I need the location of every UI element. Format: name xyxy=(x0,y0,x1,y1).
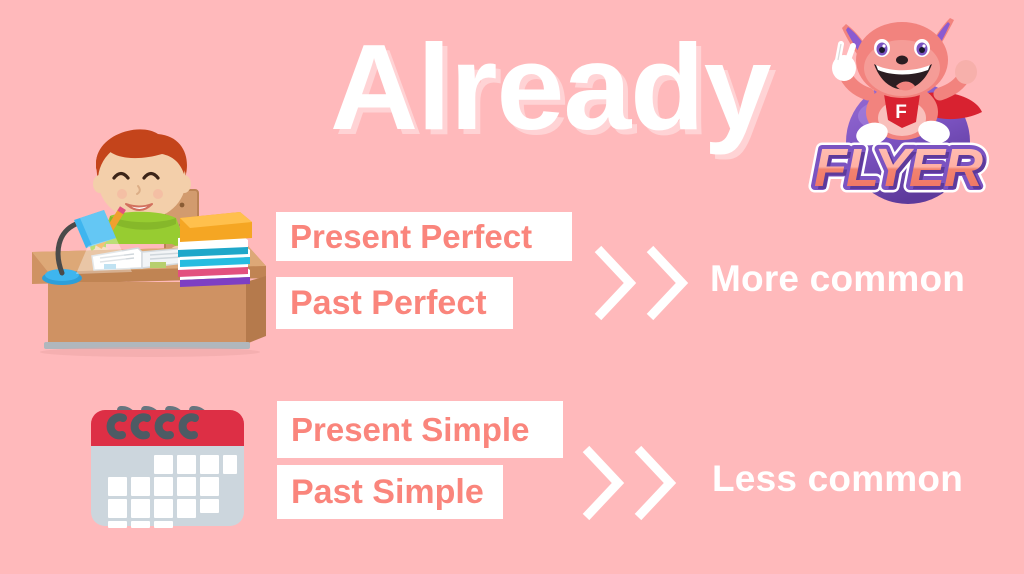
term-box-past-simple[interactable]: Past Simple xyxy=(277,465,503,519)
calendar-icon xyxy=(85,372,250,537)
chevron-right-icon xyxy=(630,443,678,523)
chevron-right-icon xyxy=(578,443,626,523)
frequency-label-more-common: More common xyxy=(710,258,965,300)
term-box-past-perfect[interactable]: Past Perfect xyxy=(276,277,513,329)
svg-text:F: F xyxy=(895,102,907,123)
page-title: Already xyxy=(330,22,790,152)
term-label: Present Simple xyxy=(291,411,529,449)
frequency-label-less-common: Less common xyxy=(712,458,963,500)
flyer-mascot-logo: F xyxy=(800,2,1012,214)
chevron-group-more-common xyxy=(590,243,690,323)
term-box-present-perfect[interactable]: Present Perfect xyxy=(276,212,572,261)
term-label: Present Perfect xyxy=(290,218,532,256)
chevron-group-less-common xyxy=(578,443,678,523)
boy-studying-at-desk-illustration xyxy=(30,112,272,360)
chevron-right-icon xyxy=(590,243,638,323)
term-label: Past Perfect xyxy=(290,284,487,323)
chevron-right-icon xyxy=(642,243,690,323)
svg-text:FLYER: FLYER xyxy=(814,138,983,198)
term-label: Past Simple xyxy=(291,473,484,512)
term-box-present-simple[interactable]: Present Simple xyxy=(277,401,563,458)
slide-canvas: Already xyxy=(0,0,1024,574)
